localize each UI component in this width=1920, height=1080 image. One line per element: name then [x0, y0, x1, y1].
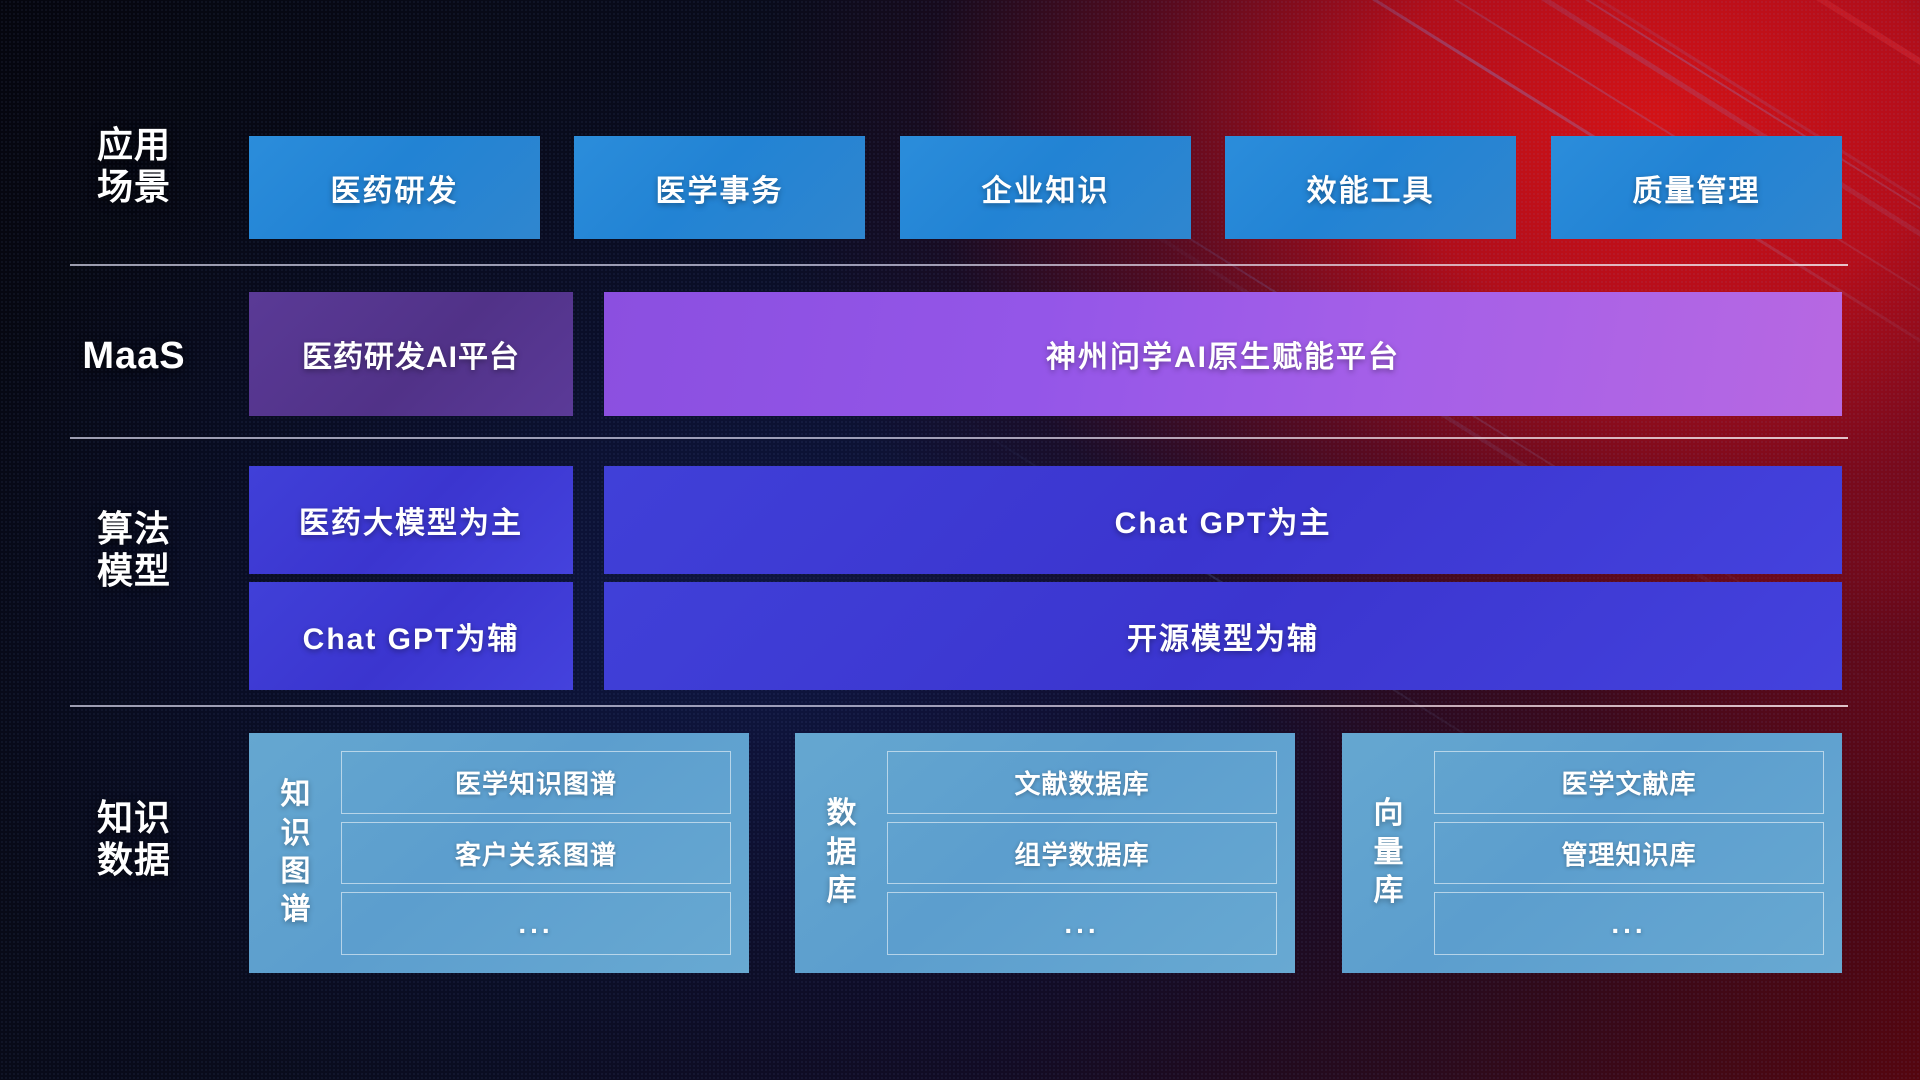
app-box-label-1: 医学事务	[656, 166, 784, 210]
app-box-label-3: 效能工具	[1307, 166, 1435, 210]
knowledge-item-2-1[interactable]: 管理知识库	[1434, 822, 1824, 885]
algo-box-label-2: Chat GPT为辅	[303, 614, 520, 658]
knowledge-item-0-2[interactable]: ...	[341, 892, 731, 955]
algo-box-opensource-secondary[interactable]: 开源模型为辅	[604, 582, 1842, 690]
app-box-0[interactable]: 医药研发	[249, 136, 540, 239]
row-divider-1	[70, 264, 1848, 266]
algo-box-label-3: 开源模型为辅	[1127, 614, 1319, 658]
row-label-maas: MaaS	[70, 334, 198, 379]
maas-box-label-1: 神州问学AI原生赋能平台	[1046, 332, 1400, 376]
knowledge-item-2-0[interactable]: 医学文献库	[1434, 751, 1824, 814]
knowledge-item-1-2[interactable]: ...	[887, 892, 1277, 955]
knowledge-panel-vector-store[interactable]: 向 量 库 医学文献库 管理知识库 ...	[1342, 733, 1842, 973]
app-box-2[interactable]: 企业知识	[900, 136, 1191, 239]
knowledge-item-2-2[interactable]: ...	[1434, 892, 1824, 955]
algo-box-label-0: 医药大模型为主	[299, 498, 523, 542]
knowledge-panel-items-0: 医学知识图谱 客户关系图谱 ...	[341, 747, 731, 959]
app-box-label-0: 医药研发	[331, 166, 459, 210]
row-divider-3	[70, 705, 1848, 707]
maas-box-medical-ai-platform[interactable]: 医药研发AI平台	[249, 292, 573, 416]
row-label-algorithm-model: 算法 模型	[70, 508, 198, 593]
app-box-1[interactable]: 医学事务	[574, 136, 865, 239]
row-label-knowledge-data: 知识 数据	[70, 797, 198, 882]
app-box-3[interactable]: 效能工具	[1225, 136, 1516, 239]
knowledge-panel-graph[interactable]: 知 识 图 谱 医学知识图谱 客户关系图谱 ...	[249, 733, 749, 973]
knowledge-panel-vlabel-2: 向 量 库	[1358, 795, 1420, 910]
row-divider-2	[70, 437, 1848, 439]
algo-box-chatgpt-secondary[interactable]: Chat GPT为辅	[249, 582, 573, 690]
knowledge-panel-database[interactable]: 数 据 库 文献数据库 组学数据库 ...	[795, 733, 1295, 973]
slide-canvas: 应用 场景 医药研发 医学事务 企业知识 效能工具 质量管理 MaaS 医药研发…	[0, 0, 1920, 1080]
maas-box-label-0: 医药研发AI平台	[302, 332, 520, 376]
knowledge-panel-items-2: 医学文献库 管理知识库 ...	[1434, 747, 1824, 959]
row-label-application-scenarios: 应用 场景	[70, 124, 198, 209]
algo-box-medical-llm-primary[interactable]: 医药大模型为主	[249, 466, 573, 574]
knowledge-panel-items-1: 文献数据库 组学数据库 ...	[887, 747, 1277, 959]
maas-box-shenzhou-platform[interactable]: 神州问学AI原生赋能平台	[604, 292, 1842, 416]
knowledge-panel-vlabel-1: 数 据 库	[811, 795, 873, 910]
algo-box-label-1: Chat GPT为主	[1115, 498, 1332, 542]
app-box-4[interactable]: 质量管理	[1551, 136, 1842, 239]
knowledge-item-0-0[interactable]: 医学知识图谱	[341, 751, 731, 814]
knowledge-item-1-1[interactable]: 组学数据库	[887, 822, 1277, 885]
app-box-label-2: 企业知识	[982, 166, 1110, 210]
knowledge-item-0-1[interactable]: 客户关系图谱	[341, 822, 731, 885]
knowledge-panel-vlabel-0: 知 识 图 谱	[265, 776, 327, 930]
app-box-label-4: 质量管理	[1633, 166, 1761, 210]
knowledge-item-1-0[interactable]: 文献数据库	[887, 751, 1277, 814]
algo-box-chatgpt-primary[interactable]: Chat GPT为主	[604, 466, 1842, 574]
